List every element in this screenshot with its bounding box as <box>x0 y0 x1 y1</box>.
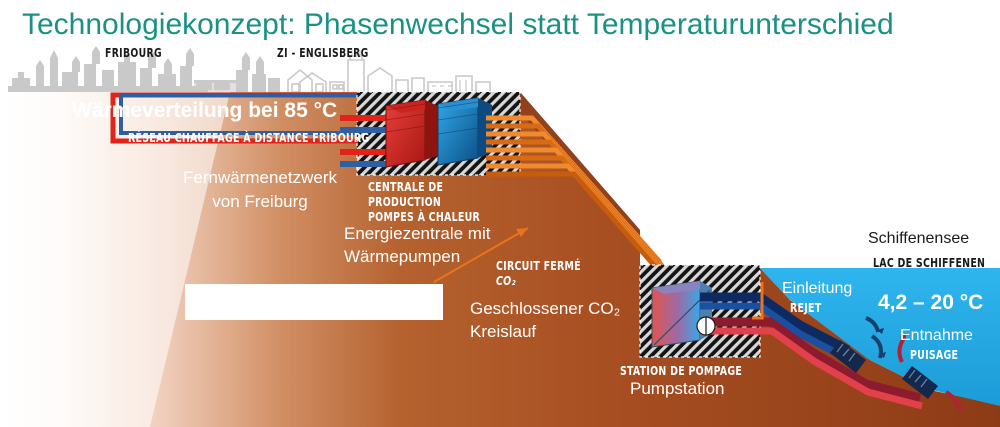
lake-intake-label-fr: PUISAGE <box>910 347 958 362</box>
heat-exchanger-blue <box>438 98 492 165</box>
lake-intake-label-de: Entnahme <box>900 327 973 345</box>
lake-name-de: Schiffenensee <box>868 230 969 248</box>
lake-discharge-label-de: Einleitung <box>782 280 852 298</box>
co2-circuit-label-fr: CIRCUIT FERMÉ CO₂ <box>496 258 605 288</box>
lake-discharge-label-fr: REJET <box>790 300 821 315</box>
heat-exchanger-red <box>386 100 440 167</box>
lake-temperature-range: 4,2 – 20 °C <box>878 291 983 315</box>
place-label-englisberg: ZI - ENGLISBERG <box>277 46 369 60</box>
infographic-root: Technologiekonzept: Phasenwechsel statt … <box>0 0 1000 427</box>
pumping-station-exchanger <box>652 281 712 347</box>
lake-name-fr: LAC DE SCHIFFENEN <box>873 255 985 270</box>
plant-label-line1: CENTRALE DE PRODUCTION <box>368 179 443 209</box>
pumping-station-label-fr: STATION DE POMPAGE <box>620 363 742 378</box>
co2-circuit-label-de: Geschlossener CO₂ Kreislauf <box>470 297 640 343</box>
circuit-label-line2: CO₂ <box>496 273 516 288</box>
heating-network-subheading: RÉSEAU CHAUFFAGE À DISTANCE FRIBOURG <box>128 130 369 145</box>
technology-diagram <box>0 0 1000 427</box>
heating-network-heading: Wärmeverteilung bei 85 °C <box>72 99 337 123</box>
place-label-fribourg: FRIBOURG <box>105 46 162 60</box>
valve-icon <box>697 317 715 335</box>
circuit-label-line1: CIRCUIT FERMÉ <box>496 258 581 273</box>
heating-network-caption: Fernwärmenetzwerk von Freiburg <box>170 166 350 214</box>
production-plant-label-fr: CENTRALE DE PRODUCTION POMPES À CHALEUR <box>368 179 494 224</box>
pumping-station-label-de: Pumpstation <box>630 379 725 399</box>
blank-overlay-box <box>185 284 443 320</box>
